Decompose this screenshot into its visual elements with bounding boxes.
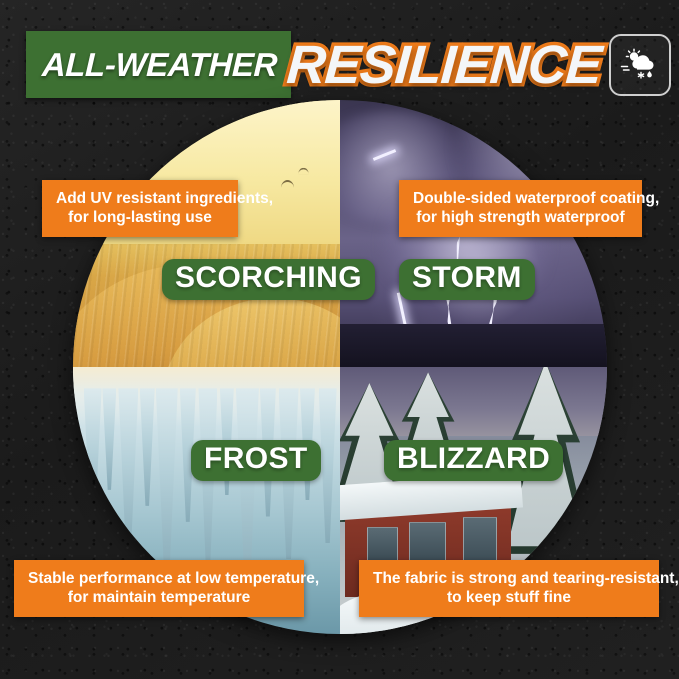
icicle: [140, 388, 155, 505]
storm-horizon: [340, 324, 607, 367]
icicle: [156, 388, 178, 575]
header-banner: ALL-WEATHER RESILIENCE: [26, 31, 656, 98]
label-storm: STORM: [399, 259, 535, 300]
icicle: [102, 388, 116, 489]
caption-frost: Stable performance at low temperature, f…: [14, 560, 304, 617]
caption-scorching-line2: for long-lasting use: [56, 208, 224, 227]
caption-frost-line2: for maintain temperature: [28, 588, 290, 607]
caption-blizzard: The fabric is strong and tearing-resista…: [359, 560, 659, 617]
title-resilience: RESILIENCE: [285, 38, 603, 92]
caption-storm-line2: for high strength waterproof: [413, 208, 628, 227]
title-all-weather: ALL-WEATHER: [41, 46, 277, 84]
label-blizzard: BLIZZARD: [384, 440, 563, 481]
title-green-block: ALL-WEATHER: [26, 31, 291, 98]
sun-cloud-snow-rain-wind-icon: [619, 44, 661, 86]
label-scorching: SCORCHING: [162, 259, 375, 300]
icicle: [236, 388, 259, 586]
caption-storm: Double-sided waterproof coating, for hig…: [399, 180, 642, 237]
caption-frost-line1: Stable performance at low temperature,: [28, 569, 290, 588]
icicle: [319, 388, 337, 543]
label-frost: FROST: [191, 440, 321, 481]
caption-blizzard-line2: to keep stuff fine: [373, 588, 645, 607]
weather-badge: [609, 34, 671, 96]
title-orange-block: RESILIENCE: [287, 31, 601, 98]
all-weather-resilience-poster: ALL-WEATHER RESILIENCE: [0, 0, 679, 679]
icicle: [84, 388, 102, 527]
caption-blizzard-line1: The fabric is strong and tearing-resista…: [373, 569, 645, 588]
caption-scorching: Add UV resistant ingredients, for long-l…: [42, 180, 238, 237]
caption-storm-line1: Double-sided waterproof coating,: [413, 189, 628, 208]
caption-scorching-line1: Add UV resistant ingredients,: [56, 189, 224, 208]
icicle: [118, 388, 138, 554]
